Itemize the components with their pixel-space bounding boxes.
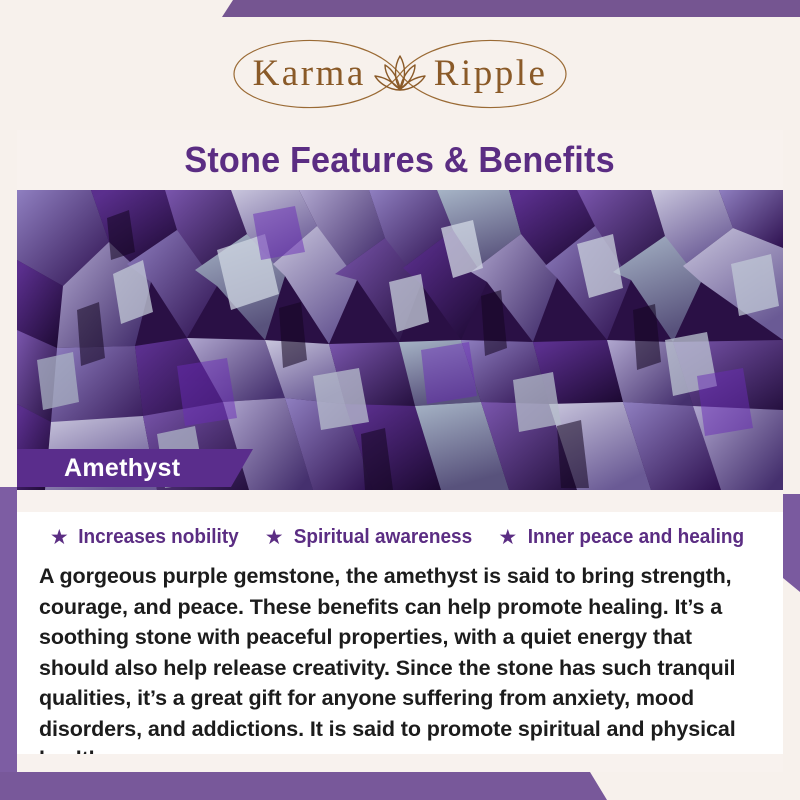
panel-bottom-strip xyxy=(17,754,783,772)
accent-band-right xyxy=(783,494,800,592)
accent-band-left xyxy=(0,487,17,800)
brand-word-right: Ripple xyxy=(434,55,548,92)
content-panel: ★ Increases nobility ★ Spiritual awarene… xyxy=(17,490,783,772)
benefit-item-2: ★ Spiritual awareness xyxy=(265,526,477,549)
stone-photo: Amethyst xyxy=(17,190,783,490)
star-icon: ★ xyxy=(50,527,69,548)
panel-top-strip xyxy=(17,490,783,512)
brand-word-left: Karma xyxy=(253,55,366,92)
stone-name-banner: Amethyst xyxy=(17,449,253,487)
amethyst-crystal-image xyxy=(17,190,783,490)
info-card: Karma Ripple Stone Features & Benefits xyxy=(17,17,783,772)
lotus-icon xyxy=(372,52,428,96)
benefit-item-1: ★ Increases nobility xyxy=(50,526,243,549)
accent-band-top xyxy=(222,0,800,17)
benefits-list: ★ Increases nobility ★ Spiritual awarene… xyxy=(17,526,783,549)
benefit-item-3: ★ Inner peace and healing xyxy=(498,526,750,549)
title-band: Stone Features & Benefits xyxy=(17,130,783,190)
star-icon: ★ xyxy=(498,527,517,548)
stone-description: A gorgeous purple gemstone, the amethyst… xyxy=(39,561,761,775)
benefit-label: Inner peace and healing xyxy=(528,526,744,549)
page-title: Stone Features & Benefits xyxy=(185,139,615,181)
benefit-label: Spiritual awareness xyxy=(293,526,471,549)
brand-logo: Karma Ripple xyxy=(17,17,783,130)
star-icon: ★ xyxy=(265,527,284,548)
accent-band-bottom xyxy=(0,772,607,800)
stone-name-label: Amethyst xyxy=(64,454,180,483)
benefit-label: Increases nobility xyxy=(78,526,239,549)
